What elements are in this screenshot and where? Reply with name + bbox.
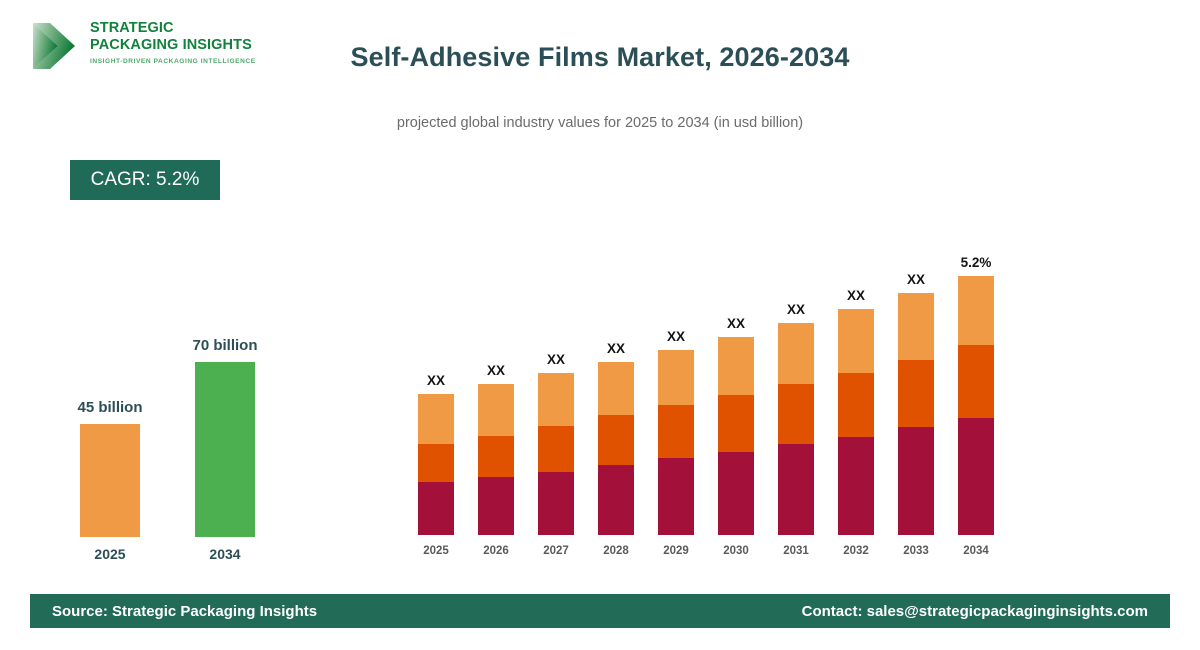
stacked-bar-segment[interactable] bbox=[538, 373, 574, 426]
stacked-column: XX2026 bbox=[478, 200, 514, 560]
brand-name-line1: STRATEGIC bbox=[90, 20, 256, 37]
comparison-bar[interactable] bbox=[195, 362, 255, 537]
endpoint-comparison-chart: 45 billion202570 billion2034 bbox=[55, 300, 285, 570]
stacked-bar-segment[interactable] bbox=[898, 360, 934, 427]
stacked-bar-segment[interactable] bbox=[778, 323, 814, 384]
stacked-bar-segment[interactable] bbox=[778, 444, 814, 535]
stacked-bar-segment[interactable] bbox=[658, 458, 694, 535]
stacked-bar-segment[interactable] bbox=[418, 444, 454, 482]
comparison-category-label: 2025 bbox=[55, 546, 165, 562]
stacked-column: XX2032 bbox=[838, 200, 874, 560]
stacked-bar-segment[interactable] bbox=[538, 472, 574, 535]
stacked-column: XX2029 bbox=[658, 200, 694, 560]
stacked-bar[interactable] bbox=[778, 323, 814, 535]
stacked-bar[interactable] bbox=[598, 362, 634, 535]
stacked-value-label: XX bbox=[751, 302, 841, 317]
stacked-bar-segment[interactable] bbox=[598, 415, 634, 464]
cagr-badge-label: CAGR: 5.2% bbox=[91, 169, 200, 191]
footer-bar: Source: Strategic Packaging Insights Con… bbox=[30, 594, 1170, 628]
stacked-bar[interactable] bbox=[538, 373, 574, 535]
page-subtitle: projected global industry values for 202… bbox=[0, 115, 1200, 131]
stacked-bar-segment[interactable] bbox=[958, 276, 994, 345]
stacked-value-label: XX bbox=[631, 329, 721, 344]
stacked-bar-segment[interactable] bbox=[478, 436, 514, 478]
stacked-bar-segment[interactable] bbox=[478, 477, 514, 535]
stacked-category-label: 2034 bbox=[931, 545, 1021, 557]
stacked-bar-segment[interactable] bbox=[418, 394, 454, 444]
stacked-bar-segment[interactable] bbox=[658, 405, 694, 459]
stacked-bar-segment[interactable] bbox=[658, 350, 694, 405]
comparison-column: 45 billion bbox=[80, 394, 140, 537]
stacked-column: XX2025 bbox=[418, 200, 454, 560]
comparison-value-label: 70 billion bbox=[150, 337, 300, 354]
stacked-value-label: 5.2% bbox=[931, 255, 1021, 270]
stacked-bar-segment[interactable] bbox=[958, 345, 994, 418]
footer-contact: Contact: sales@strategicpackaginginsight… bbox=[802, 603, 1148, 620]
footer-source: Source: Strategic Packaging Insights bbox=[52, 603, 317, 620]
stacked-bar-segment[interactable] bbox=[898, 427, 934, 535]
page-title: Self-Adhesive Films Market, 2026-2034 bbox=[0, 42, 1200, 73]
stacked-bar[interactable] bbox=[898, 293, 934, 535]
stacked-bar-segment[interactable] bbox=[718, 395, 754, 452]
stacked-bar-segment[interactable] bbox=[958, 418, 994, 535]
stacked-bar[interactable] bbox=[718, 337, 754, 535]
stacked-bar[interactable] bbox=[418, 394, 454, 535]
comparison-column: 70 billion bbox=[195, 332, 255, 537]
stacked-column: XX2031 bbox=[778, 200, 814, 560]
stacked-bar-segment[interactable] bbox=[538, 426, 574, 472]
stacked-value-label: XX bbox=[811, 288, 901, 303]
stacked-bar[interactable] bbox=[838, 309, 874, 535]
stacked-value-label: XX bbox=[871, 272, 961, 287]
stacked-bar-segment[interactable] bbox=[838, 373, 874, 437]
stacked-column: 5.2%2034 bbox=[958, 200, 994, 560]
yearly-stacked-forecast-chart: XX2025XX2026XX2027XX2028XX2029XX2030XX20… bbox=[400, 200, 1020, 560]
stacked-bar[interactable] bbox=[958, 276, 994, 535]
stacked-bar-segment[interactable] bbox=[478, 384, 514, 436]
stacked-bar-segment[interactable] bbox=[598, 465, 634, 535]
stacked-bar-segment[interactable] bbox=[718, 337, 754, 395]
stacked-bar[interactable] bbox=[658, 350, 694, 535]
stacked-bar[interactable] bbox=[478, 384, 514, 535]
comparison-bar[interactable] bbox=[80, 424, 140, 537]
stacked-bar-segment[interactable] bbox=[838, 437, 874, 535]
stacked-bar-segment[interactable] bbox=[778, 384, 814, 444]
comparison-value-label: 45 billion bbox=[35, 399, 185, 416]
stacked-column: XX2027 bbox=[538, 200, 574, 560]
stacked-bar-segment[interactable] bbox=[898, 293, 934, 360]
cagr-badge: CAGR: 5.2% bbox=[70, 160, 220, 200]
stacked-column: XX2033 bbox=[898, 200, 934, 560]
stacked-bar-segment[interactable] bbox=[418, 482, 454, 535]
stacked-bar-segment[interactable] bbox=[718, 452, 754, 535]
stacked-column: XX2028 bbox=[598, 200, 634, 560]
comparison-category-label: 2034 bbox=[170, 546, 280, 562]
stacked-bar-segment[interactable] bbox=[598, 362, 634, 415]
stacked-value-label: XX bbox=[691, 316, 781, 331]
stacked-bar-segment[interactable] bbox=[838, 309, 874, 373]
stacked-column: XX2030 bbox=[718, 200, 754, 560]
